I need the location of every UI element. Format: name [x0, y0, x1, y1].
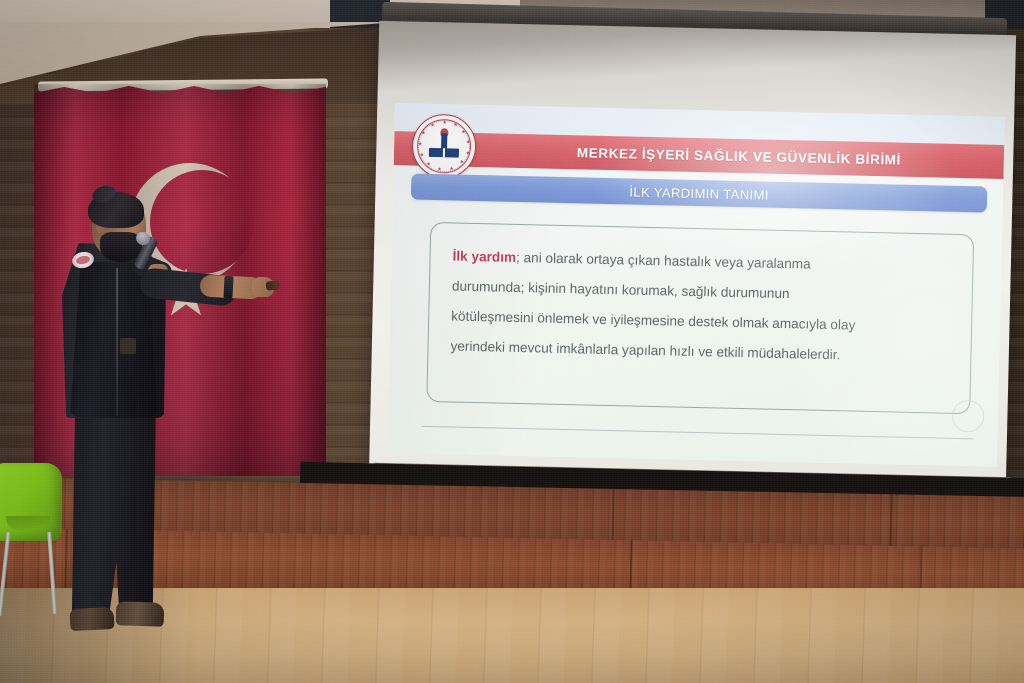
slide-corner-watermark-icon: [952, 400, 985, 433]
emblem-book-icon: [429, 148, 459, 158]
speaker-shoe-left: [69, 607, 114, 631]
stage-panel-seam: [64, 529, 67, 593]
emblem-torch-icon: [441, 133, 447, 149]
presentation-room-photo: MERKEZ İŞYERİ SAĞLIK VE GÜVENLİK BİRİMİ: [0, 0, 1024, 683]
presentation-remote-icon: [266, 280, 281, 290]
slide-header-title: MERKEZ İŞYERİ SAĞLIK VE GÜVENLİK BİRİMİ: [497, 143, 901, 167]
flag-crescent-cutout: [150, 170, 254, 274]
slide-body-highlight: İlk yardım: [452, 248, 516, 264]
emblem-center-device: [429, 133, 460, 160]
speaker-vest-pocket: [120, 338, 136, 354]
presentation-slide: MERKEZ İŞYERİ SAĞLIK VE GÜVENLİK BİRİMİ: [387, 103, 1005, 467]
speaker-shoe-right: [116, 601, 165, 627]
chair-seat-notch: [6, 516, 50, 530]
wristwatch-icon: [223, 276, 233, 298]
speaker-vest-zipper: [116, 268, 118, 416]
slide-footer-rule: [422, 426, 974, 440]
slide-content-box: İlk yardım; ani olarak ortaya çıkan hast…: [426, 222, 974, 414]
ministry-emblem-icon: [411, 114, 476, 179]
slide-subtitle-bar: İLK YARDIMIN TANIMI: [411, 174, 987, 213]
slide-body-line-1-rest: ; ani olarak ortaya çıkan hastalık veya …: [516, 250, 811, 272]
slide-subtitle-text: İLK YARDIMIN TANIMI: [629, 184, 769, 202]
